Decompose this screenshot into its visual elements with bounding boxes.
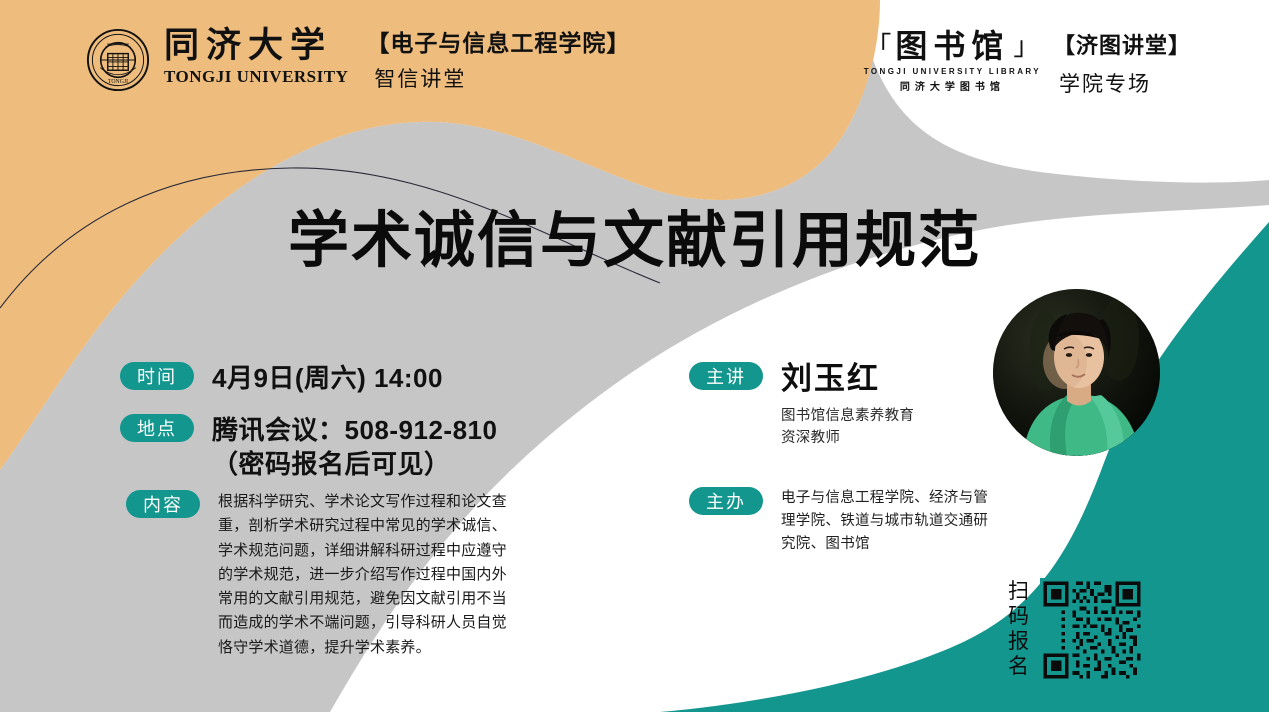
series-name: 智信讲堂 [374,65,630,93]
qr-label: 扫码报名 [1008,580,1032,679]
value-host: 电子与信息工程学院、经济与管理学院、铁道与城市轨道交通研究院、图书馆 [781,487,999,556]
info-row-content: 内容 根据科学研究、学术论文写作过程和论文查重，剖析学术研究过程中常见的学术诚信… [126,490,510,660]
tongji-wordmark: 同济大学 TONGJI UNIVERSITY [164,28,348,87]
qr-registration-block[interactable]: 扫码报名 [1008,578,1144,682]
lecture-series-block: 【济图讲堂】 学院专场 [1053,32,1191,98]
lecture-series-name: 【济图讲堂】 [1053,32,1191,60]
school-series-block: 【电子与信息工程学院】 智信讲堂 [366,30,630,93]
speaker-title: 图书馆信息素养教育 资深教师 [781,406,914,450]
info-row-host: 主办 电子与信息工程学院、经济与管理学院、铁道与城市轨道交通研究院、图书馆 [689,487,999,556]
poster-canvas: TONGJI 同济大学 TONGJI UNIVERSITY 【电子与信息工程学院… [0,0,1269,712]
school-name: 【电子与信息工程学院】 [366,30,630,59]
library-name-cn: 图书馆 [895,30,1009,64]
bracket-close: 」 [1013,34,1039,60]
library-name-row: 「 图书馆 」 [865,30,1039,64]
speaker-name: 刘玉红 [781,362,914,396]
label-place: 地点 [120,414,194,442]
library-name-en: TONGJI UNIVERSITY LIBRARY [864,67,1041,76]
value-time: 4月9日(周六) 14:00 [212,362,443,395]
university-name-en: TONGJI UNIVERSITY [164,67,348,87]
university-name-cn: 同济大学 [164,28,348,65]
label-content: 内容 [126,490,200,518]
value-content: 根据科学研究、学术论文写作过程和论文查重，剖析学术研究过程中常见的学术诚信、学术… [218,490,510,660]
library-name-cn-small: 同济大学图书馆 [900,78,1005,93]
qr-code-icon[interactable] [1040,578,1144,682]
info-row-time: 时间 4月9日(周六) 14:00 [120,362,443,395]
library-logo: 「 图书馆 」 TONGJI UNIVERSITY LIBRARY 同济大学图书… [864,30,1041,93]
info-row-place: 地点 腾讯会议：508-912-810 （密码报名后可见） [120,414,497,482]
info-row-speaker: 主讲 刘玉红 图书馆信息素养教育 资深教师 [689,362,914,450]
speaker-portrait [993,289,1160,456]
tongji-seal-icon: TONGJI [86,28,150,92]
value-place: 腾讯会议：508-912-810 （密码报名后可见） [212,414,497,482]
page-title: 学术诚信与文献引用规范 [0,190,1269,279]
speaker-details: 刘玉红 图书馆信息素养教育 资深教师 [781,362,914,450]
speaker-portrait-image [993,289,1160,456]
header-right-branding: 「 图书馆 」 TONGJI UNIVERSITY LIBRARY 同济大学图书… [864,30,1191,98]
svg-text:TONGJI: TONGJI [108,79,128,85]
label-time: 时间 [120,362,194,390]
lecture-series-sub: 学院专场 [1059,68,1191,98]
label-speaker: 主讲 [689,362,763,390]
bracket-open: 「 [865,34,891,60]
label-host: 主办 [689,487,763,515]
header-left-branding: TONGJI 同济大学 TONGJI UNIVERSITY 【电子与信息工程学院… [86,28,630,93]
